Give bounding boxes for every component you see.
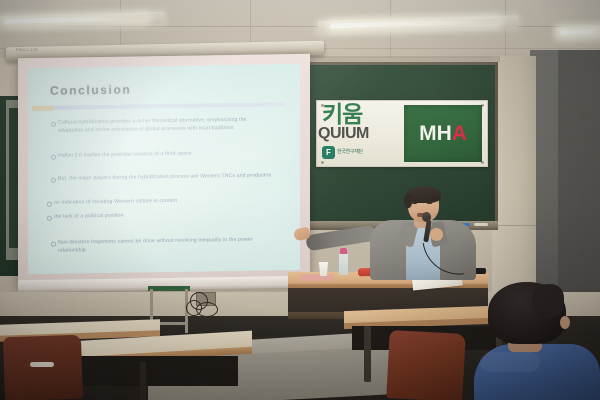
banner-screw (321, 161, 324, 164)
ceiling-panel-line (505, 0, 506, 62)
banner-korean-text: 키움 (322, 103, 400, 126)
pink-paper (300, 274, 334, 282)
chair-left (3, 335, 83, 400)
slide-bullet: Cultural hybridization provides a richer… (58, 116, 273, 135)
wall-seam (492, 225, 536, 226)
slide-bullet: no indication of resisting Western cultu… (54, 196, 269, 207)
slide-bullet-text: But, the major players during the hybrid… (58, 172, 271, 181)
slide-bullet: Hallyu 2.0 implies the potential creatio… (58, 149, 273, 160)
audience-ear (560, 316, 570, 329)
slide-title-accent (32, 106, 54, 111)
presenter-figure (370, 188, 482, 280)
agency-name-text: 한국연구재단 (337, 150, 363, 156)
slide-title: Conclusion (50, 83, 131, 98)
audience-shoulder-highlight (480, 352, 540, 372)
mha-letters-mh: MH (419, 122, 452, 145)
screen-housing-label: PROJ-120 (16, 47, 38, 52)
slide-bullet: But, the major players during the hybrid… (58, 172, 273, 183)
water-bottle (339, 253, 348, 275)
mha-logo-text: MHA (419, 123, 467, 144)
chair-right (386, 330, 465, 400)
slide-bullet-text: Non-Western hegemony cannot be done with… (58, 237, 253, 254)
presentation-slide: Conclusion Cultural hybridization provid… (28, 64, 300, 274)
presenter-hair-side (404, 194, 412, 208)
audience-member-foreground (478, 282, 600, 400)
slide-bullet: the lack of a political position (54, 210, 269, 221)
presenter-eye (427, 202, 432, 204)
lecture-hall-photo: 키움 QUIUM F 한국연구재단 MHA PROJ-120 Conclusio… (0, 0, 600, 400)
mha-logo-box: MHA (404, 105, 482, 162)
slide-bullet-text: no indication of resisting Western cultu… (54, 198, 177, 206)
mha-letter-a: A (452, 122, 467, 145)
funding-agency-logo: F 한국연구재단 (322, 146, 363, 159)
cable-coil (186, 300, 202, 316)
slide-bullet-text: Cultural hybridization provides a richer… (58, 117, 247, 134)
desk-leg (140, 362, 146, 400)
ceiling-panel-line (390, 0, 391, 62)
presenter-eye (412, 202, 417, 204)
audience-desk-left-underside (78, 356, 238, 386)
water-bottle-cap (340, 248, 347, 254)
av-cart-top (148, 286, 190, 291)
agency-mark-icon: F (322, 146, 335, 159)
banner-latin-text: QUIUM (318, 126, 404, 142)
ceiling-light-fixture (556, 25, 600, 39)
slide-bullet-text: Hallyu 2.0 implies the potential creatio… (58, 151, 192, 159)
audience-hair-tuft (532, 284, 564, 318)
chair-backrest-slot (30, 362, 54, 367)
slide-bullet-text: the lack of a political position (54, 213, 124, 220)
desk-leg (364, 326, 371, 382)
slide-bullet: Non-Western hegemony cannot be done with… (58, 236, 276, 255)
slide-title-rule (50, 102, 286, 110)
